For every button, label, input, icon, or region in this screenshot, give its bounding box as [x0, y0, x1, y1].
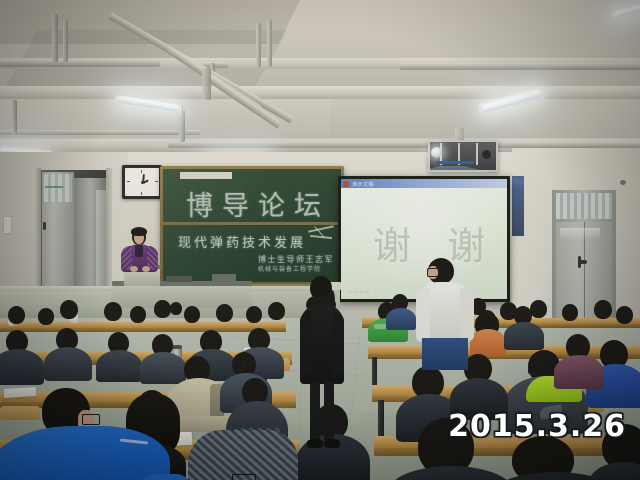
woman-leg-right: [324, 382, 334, 442]
desk-leg: [372, 357, 377, 385]
open-door-transom: [44, 174, 72, 202]
lecture-hall-photo: 博导论坛 现代弹药技术发展 博士生导师王志军 机械与装备工程学院 演示文稿 谢 …: [0, 0, 640, 480]
blackboard-notice-strip: [180, 172, 232, 179]
student-torso: [504, 322, 544, 350]
student-head: [616, 306, 633, 324]
projector-cage-bar-3: [476, 143, 478, 165]
desk-equipment: [166, 276, 192, 282]
student-torso: [44, 347, 92, 381]
lecturer-hand-left: [130, 266, 138, 272]
student-torso: [96, 350, 142, 382]
closed-door-glare: [560, 228, 600, 240]
student-head: [246, 306, 262, 323]
slide-window-title: 演示文稿: [352, 181, 374, 188]
student-head: [104, 302, 122, 321]
closed-door-handle-bar[interactable]: [578, 256, 581, 268]
ceiling-pipe-right: [400, 63, 640, 70]
powerpoint-icon: [343, 181, 349, 187]
ceiling-pipe-low-left: [0, 130, 200, 135]
coat-sleeve-right: [333, 312, 344, 374]
pipe-hanger-2: [63, 20, 68, 62]
man-jeans: [422, 338, 468, 370]
student-head: [268, 302, 285, 320]
blackboard-subtitle: 现代弹药技术发展: [178, 232, 306, 251]
closed-door-transom: [556, 193, 612, 219]
pipe-hanger-8: [12, 100, 17, 135]
clock-tick-3: [155, 181, 158, 182]
blackboard-signature-2: 机械与装备工程学院: [258, 264, 321, 273]
coat-sleeve-left: [300, 312, 311, 374]
desk-edge: [0, 328, 286, 332]
slide-footer-date: 2015.3.26: [347, 289, 369, 294]
student-torso: [554, 355, 604, 389]
clock-center-pin: [141, 181, 144, 184]
door-sticker: [45, 186, 63, 188]
student-head: [530, 300, 547, 318]
student-torso: [140, 352, 186, 384]
student-head: [130, 306, 146, 323]
desk-control-panel[interactable]: [212, 274, 236, 282]
projector-lens: [431, 147, 442, 158]
student-torso: [0, 426, 170, 480]
student-head: [184, 306, 200, 323]
glasses-icon: [233, 362, 245, 370]
open-door-handle[interactable]: [43, 222, 46, 230]
projector-indicator: [436, 161, 474, 164]
ceiling-sensor-right: [620, 180, 626, 185]
clock-tick-6: [141, 192, 142, 195]
woman-shoe-left: [307, 439, 323, 448]
student-torso: [386, 308, 416, 330]
student-head: [216, 304, 233, 322]
blackboard-title: 博导论坛: [186, 184, 330, 223]
student-head: [154, 300, 171, 318]
chair-back: [0, 406, 40, 420]
shirt-sleeve-left: [416, 288, 430, 340]
student-head: [562, 304, 578, 321]
camera-date-stamp: 2015.3.26: [448, 409, 626, 444]
shirt-sleeve-right: [460, 288, 474, 340]
ceiling-pipe-left: [0, 60, 160, 67]
glasses-icon: [82, 414, 100, 425]
glasses-icon: [427, 268, 441, 277]
student-torso: [0, 349, 44, 385]
glasses-icon: [528, 364, 543, 374]
conduit-joint: [202, 68, 211, 100]
knit-hat: [188, 430, 298, 480]
glasses-icon: [232, 474, 256, 480]
pipe-hanger-6: [267, 20, 272, 67]
thermos-cap: [172, 345, 182, 349]
pipe-hanger-1: [52, 14, 58, 62]
projector-port: [482, 150, 491, 159]
pipe-hanger-5: [256, 23, 261, 67]
student-head: [8, 306, 25, 324]
desk-leg: [378, 400, 384, 438]
wall-notice: [3, 216, 12, 234]
lecturer-hand-right: [142, 266, 150, 272]
woman-shoe-right: [324, 439, 340, 448]
student-torso: [470, 329, 506, 355]
student-head: [60, 300, 78, 319]
student-head: [594, 300, 612, 319]
student-head: [170, 302, 182, 315]
clock-tick-9: [127, 181, 130, 182]
slide-canvas: 演示文稿 谢 谢 2015.3.26: [341, 179, 507, 299]
woman-leg-left: [310, 382, 320, 442]
student-head: [38, 308, 54, 325]
lecturer-collar: [135, 245, 143, 257]
lecturer-hair: [131, 227, 147, 236]
teacher-desk: [112, 284, 252, 308]
desk-edge: [374, 448, 640, 456]
clock-tick-12: [141, 170, 142, 173]
